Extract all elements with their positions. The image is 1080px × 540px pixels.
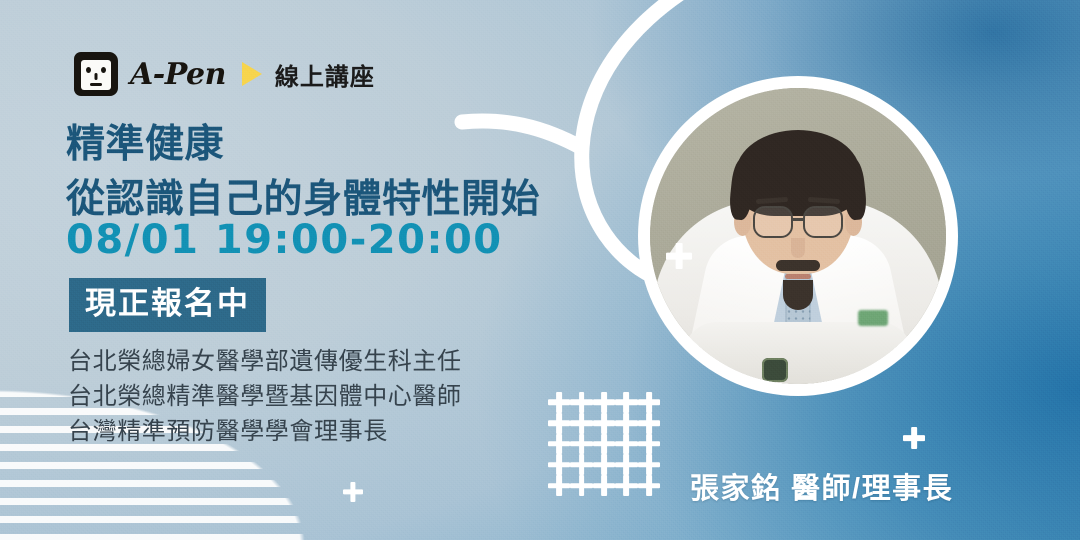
webinar-promo-banner: A-Pen 線上講座 精準健康 從認識自己的身體特性開始 08/01 19:00… bbox=[0, 0, 1080, 540]
brand-subtitle: 線上講座 bbox=[275, 57, 375, 92]
play-triangle-icon bbox=[242, 62, 262, 86]
speaker-name: 張家銘 醫師/理事長 bbox=[690, 465, 953, 507]
plus-icon bbox=[666, 243, 692, 269]
speaker-credentials: 台北榮總婦女醫學部遺傳優生科主任 台北榮總精準醫學暨基因體中心醫師 台灣精準預防… bbox=[68, 344, 462, 449]
plus-grid-icon bbox=[548, 392, 660, 496]
headline-line-1: 精準健康 bbox=[66, 117, 540, 172]
doctor-portrait bbox=[650, 88, 946, 384]
brand-wordmark: A-Pen bbox=[130, 57, 226, 92]
credential-line-1: 台北榮總婦女醫學部遺傳優生科主任 bbox=[68, 344, 462, 379]
plus-icon bbox=[343, 482, 363, 502]
brand-logo-row: A-Pen 線上講座 bbox=[74, 52, 375, 96]
plus-icon bbox=[903, 427, 925, 449]
status-badge: 現正報名中 bbox=[69, 278, 266, 332]
apen-face-logo-icon bbox=[74, 52, 118, 96]
page-title: 精準健康 從認識自己的身體特性開始 bbox=[66, 117, 540, 228]
credential-line-3: 台灣精準預防醫學學會理事長 bbox=[68, 414, 462, 449]
event-datetime: 08/01 19:00-20:00 bbox=[66, 217, 503, 263]
avatar bbox=[638, 76, 958, 396]
credential-line-2: 台北榮總精準醫學暨基因體中心醫師 bbox=[68, 379, 462, 414]
